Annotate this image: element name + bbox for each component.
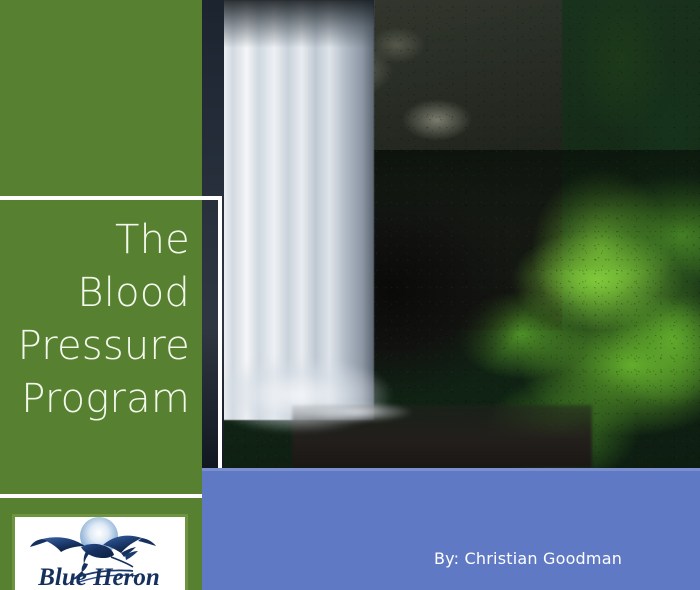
book-title: The Blood Pressure Program [0,214,190,426]
book-cover: The Blood Pressure Program By: Christian… [0,0,700,590]
title-line-3: Pressure [0,320,190,373]
photo-left-edge-shadow [202,0,224,468]
title-line-1: The [0,214,190,267]
green-panel-lower-strip [188,498,202,590]
brand-logo-inner: Blue Heron [15,517,185,590]
waterfall-lip [202,0,374,48]
author-band-top-edge [202,468,700,471]
author-byline: By: Christian Goodman [434,549,622,568]
brand-logo-box: Blue Heron [12,514,188,590]
blue-heron-logo: Blue Heron [15,517,185,590]
title-frame-top-stub [0,196,14,200]
title-line-4: Program [0,373,190,426]
author-band [202,468,700,590]
pool-highlight [297,398,447,428]
brand-wordmark: Blue Heron [37,564,160,590]
waterfall-forest-photo [202,0,700,468]
title-frame-bottom-stub [0,494,14,498]
title-line-2: Blood [0,267,190,320]
